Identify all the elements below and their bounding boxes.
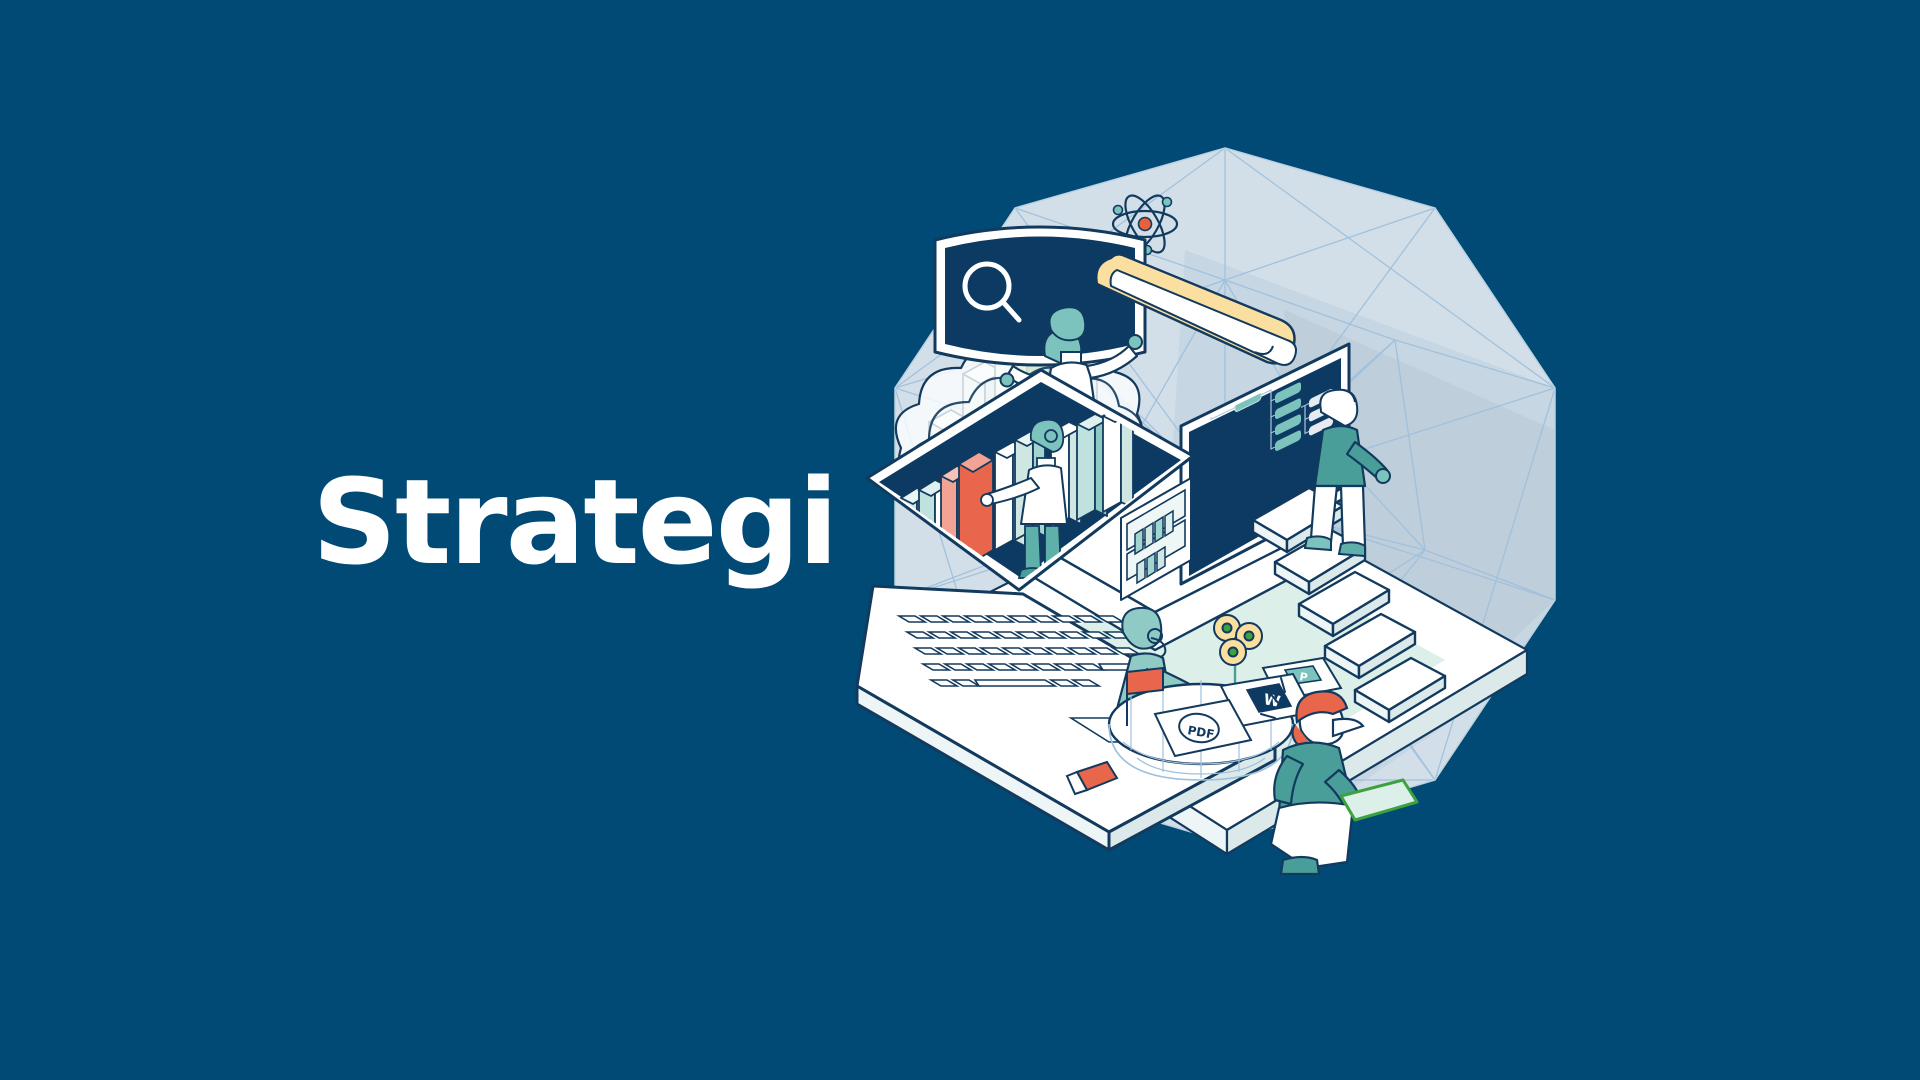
title-slide: Strategi — [0, 0, 1920, 1080]
page-title: Strategi — [312, 463, 837, 581]
hero-illustration: 2030 — [855, 130, 1595, 920]
search-magnifier-screen — [945, 237, 1135, 357]
